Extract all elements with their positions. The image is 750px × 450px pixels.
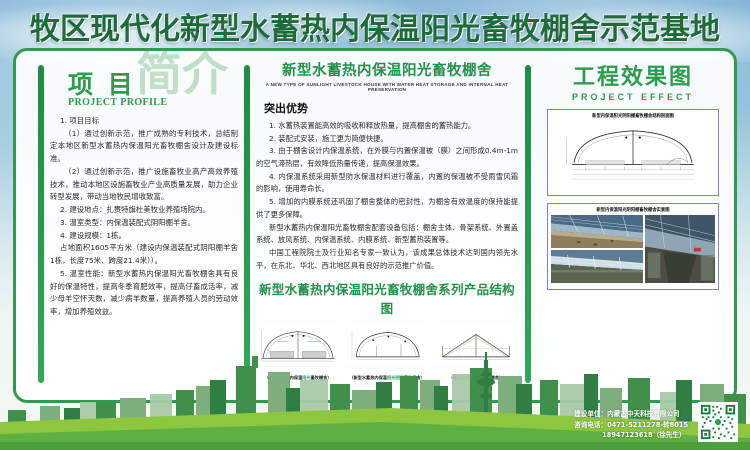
profile-paragraph: 2. 建设地点：扎赉特旗杜美牧业养殖场院内。	[50, 204, 238, 217]
advantage-item: 4. 内保温系统采用新型防水保温材料进行覆盖，内置的保温被不受雨雪风霜的影响，使…	[256, 171, 518, 196]
poster-root: 牧区现代化新型水蓄热内保温阳光畜牧棚舍示范基地 简介 项 目 PROJECT P…	[0, 0, 750, 450]
structure-caption: （新型双坡屋脊式畜牧棚舍）	[434, 375, 518, 381]
advantage-item: 1. 水蓄热装置能高效的吸收和释放热量，提高棚舍的蓄热能力。	[256, 120, 518, 133]
contact-info: 建设单位：内蒙古中天科技有限公司 咨询电话：0471-5211278-转8015…	[574, 409, 688, 440]
divider-bar-right	[525, 65, 531, 383]
project-effect-heading-cn: 工程效果图	[537, 59, 729, 91]
contact-phone-mobile: 18947123618（徐先生）	[574, 430, 688, 440]
effect-card-drawing: 新型内保温阳光阴阳棚畜牧棚舍结构剖面图	[547, 109, 719, 196]
profile-paragraph: 4. 建设规模：1栋。	[50, 230, 238, 243]
photo-greenhouse-interior-3	[551, 250, 643, 283]
profile-paragraph: 1. 项目目标	[50, 115, 238, 128]
photo-grid	[551, 215, 715, 283]
project-profile-heading: 简介 项 目 PROJECT PROFILE	[50, 59, 238, 115]
structure-caption: （新型水蓄热内保温阳光阴阳畜牧棚舍）	[345, 375, 429, 381]
asymmetric-arch-drawing-icon	[345, 321, 429, 369]
profile-paragraph: （1）通过创新示范，推广成熟的专利技术，总结制定本地区新型水蓄热内保温阳光畜牧棚…	[50, 128, 238, 166]
advantages-heading: 突出优势	[264, 100, 518, 116]
equipment-paragraph: 新型水蓄热内保温阳光畜牧棚舍配套设备包括：棚舍主体、骨架系统、外置盖系统、放风系…	[256, 222, 518, 247]
section-project-profile: 简介 项 目 PROJECT PROFILE 1. 项目目标 （1）通过创新示范…	[50, 59, 238, 319]
greenhouse-section-drawing-icon	[551, 121, 715, 187]
photo-greenhouse-interior-2	[645, 215, 715, 283]
effect-card-photos: 新型内保温阳光阴阳棚畜牧棚舍实景图	[547, 203, 719, 290]
contact-unit: 建设单位：内蒙古中天科技有限公司	[574, 409, 688, 419]
product-title: 新型水蓄热内保温阳光畜牧棚舍	[256, 59, 518, 80]
structure-diagram-1: （新型水蓄热内保温阳光畜牧棚舍）	[256, 321, 340, 381]
project-profile-heading-accent: 简介	[136, 51, 228, 97]
effect-card-caption: 新型内保温阳光阴阳棚畜牧棚舍实景图	[551, 207, 715, 213]
photo-greenhouse-interior-1	[551, 215, 643, 248]
advantage-item: 2. 装配式安装，施工更为简便快捷。	[256, 133, 518, 146]
advantage-item: 3. 由于棚舍设计内保温系统，在外膜与内置保温被（膜）之间形成0.4m-1m的空…	[256, 145, 518, 170]
profile-paragraph: 5. 温室性能：新型水蓄热内保温阳光畜牧棚舍具有良好的保温特性，提高冬季育肥效率…	[50, 268, 238, 319]
contact-phone: 咨询电话：0471-5211278-转8015	[574, 420, 688, 430]
product-subtitle-en: A NEW TYPE OF SUNLIGHT LIVESTOCK HOUSE W…	[256, 82, 518, 92]
profile-paragraph: 占地面积1605平方米（建设内保温装配式阴阳棚羊舍1栋，长度75米、跨度21.4…	[50, 242, 238, 267]
divider-bar-middle	[244, 65, 250, 383]
structure-section-title: 新型水蓄热内保温阳光畜牧棚舍系列产品结构图	[256, 279, 518, 317]
expert-paragraph: 中国工程院院士及行业知名专家一致认为，该成果总体技术达到国内领先水平，在东北、华…	[256, 247, 518, 272]
structure-diagram-2: （新型水蓄热内保温阳光阴阳畜牧棚舍）	[345, 321, 429, 381]
advantages-body: 1. 水蓄热装置能高效的吸收和释放热量，提高棚舍的蓄热能力。 2. 装配式安装，…	[256, 120, 518, 272]
advantage-item: 5. 增加的内膜系统还巩固了棚舍整体的密封性，为棚舍有效温度的保持能提供了更多保…	[256, 196, 518, 221]
project-profile-heading-cn: 项 目	[68, 65, 136, 101]
arch-section-drawing-icon	[256, 321, 340, 369]
project-profile-body: 1. 项目目标 （1）通过创新示范，推广成熟的专利技术，总结制定本地区新型水蓄热…	[50, 115, 238, 319]
qr-code-icon[interactable]	[698, 402, 738, 442]
structure-diagram-3: （新型双坡屋脊式畜牧棚舍）	[434, 321, 518, 381]
effect-card-caption: 新型内保温阳光阴阳棚畜牧棚舍结构剖面图	[551, 113, 715, 119]
section-project-effect: 工程效果图 PROJECT EFFECT 新型内保温阳光阴阳棚畜牧棚舍结构剖面图	[537, 59, 729, 290]
profile-paragraph: （2）通过创新示范，推广设施畜牧业高产高效养殖技术，推动本地区设施畜牧业产业高质…	[50, 166, 238, 204]
poster-main-title: 牧区现代化新型水蓄热内保温阳光畜牧棚舍示范基地	[0, 4, 750, 48]
structure-caption: （新型水蓄热内保温阳光畜牧棚舍）	[256, 375, 340, 381]
section-product-intro: 新型水蓄热内保温阳光畜牧棚舍 A NEW TYPE OF SUNLIGHT LI…	[256, 59, 518, 381]
project-profile-heading-en: PROJECT PROFILE	[68, 97, 167, 108]
structure-diagram-row: （新型水蓄热内保温阳光畜牧棚舍）	[256, 321, 518, 381]
project-effect-heading-en: PROJECT EFFECT	[537, 92, 729, 102]
divider-bar-left	[38, 65, 44, 383]
profile-paragraph: 3. 温室类型：内保温装配式阴阳棚羊舍。	[50, 217, 238, 230]
gable-roof-drawing-icon	[434, 321, 518, 369]
content-frame: 简介 项 目 PROJECT PROFILE 1. 项目目标 （1）通过创新示范…	[13, 48, 737, 403]
